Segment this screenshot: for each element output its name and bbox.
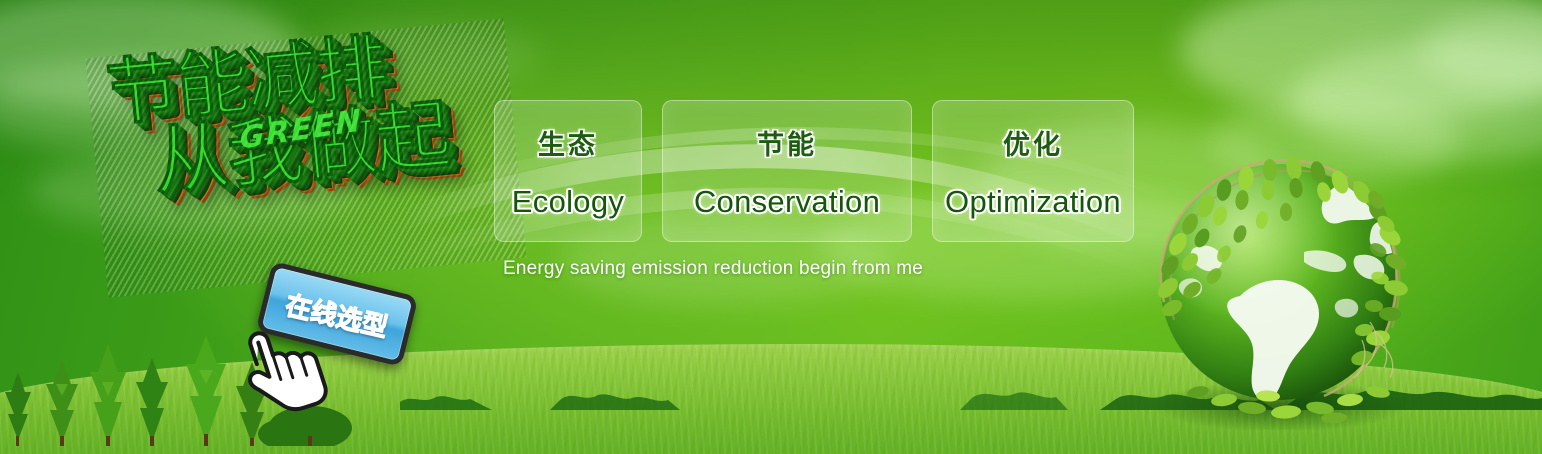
headline-3d: 节能减排 从我做起 GREEN (85, 18, 526, 297)
feature-card-ecology-cn: 生态 (538, 123, 598, 162)
feature-card-ecology[interactable]: 生态 Ecology (494, 100, 642, 242)
feature-card-optimization-en: Optimization (945, 184, 1121, 220)
feature-card-conservation-en: Conservation (694, 184, 880, 220)
leafy-earth-globe-icon (1128, 130, 1428, 430)
feature-card-optimization[interactable]: 优化 Optimization (932, 100, 1134, 242)
feature-card-conservation[interactable]: 节能 Conservation (662, 100, 912, 242)
tagline: Energy saving emission reduction begin f… (503, 258, 923, 280)
feature-card-optimization-cn: 优化 (1003, 123, 1063, 162)
feature-cards: 生态 Ecology 节能 Conservation 优化 Optimizati… (494, 100, 1134, 242)
eco-hero-banner: 节能减排 从我做起 GREEN 在线选型 生态 Ecology 节能 Conse… (0, 0, 1542, 454)
feature-card-ecology-en: Ecology (512, 184, 624, 220)
feature-card-conservation-cn: 节能 (757, 123, 817, 162)
hand-pointer-icon (238, 322, 330, 418)
